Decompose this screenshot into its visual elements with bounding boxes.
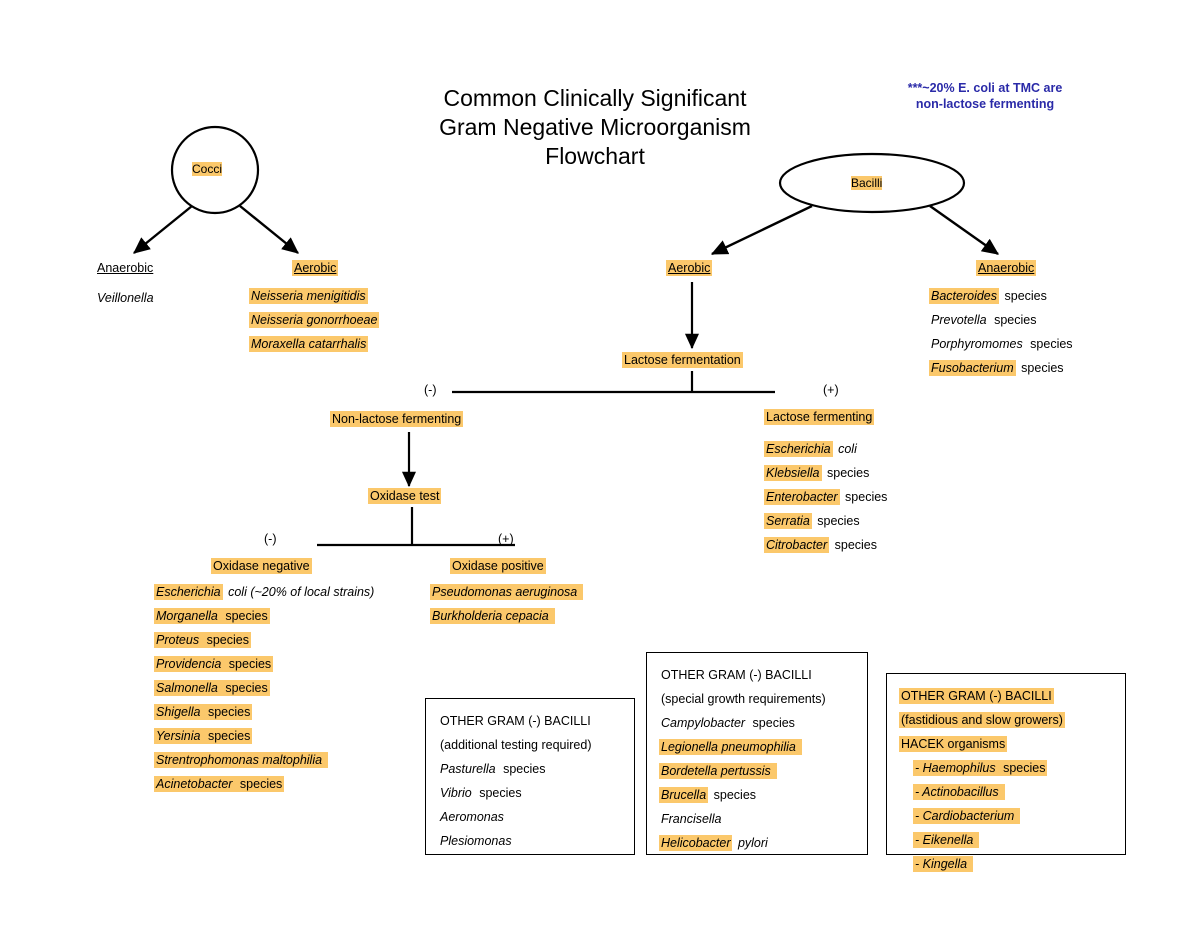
box1-item-0-genus: Campylobacter	[659, 715, 747, 731]
list-item: Burkholderia cepacia	[430, 604, 583, 628]
bacilli-anaerobic-item-3-rest: species	[1016, 360, 1066, 376]
cocci-aerobic-list: Neisseria menigitidis Neisseria gonorrho…	[249, 284, 379, 356]
oxidase-neg-item-8-rest: species	[234, 776, 284, 792]
list-item: Strentrophomonas maltophilia	[154, 748, 376, 772]
box0-item-2-rest	[506, 809, 510, 825]
box0-item-2-genus: Aeromonas	[438, 809, 506, 825]
list-item: - Kingella	[899, 852, 1113, 876]
box2-item-1-genus: - Actinobacillus	[913, 784, 1001, 800]
lactose-item-1-genus: Klebsiella	[764, 465, 822, 481]
oxidase-neg-item-1-genus: Morganella	[154, 608, 220, 624]
list-item: Enterobacter species	[764, 485, 889, 509]
box-title: OTHER GRAM (-) BACILLI	[438, 709, 622, 733]
box1-item-1-rest	[798, 739, 802, 755]
list-item: Moraxella catarrhalis	[249, 332, 379, 356]
list-item: Helicobacter pylori	[659, 831, 855, 855]
oxidase-neg-item-0-genus: Escherichia	[154, 584, 223, 600]
oxidase-neg-item-5-genus: Shigella	[154, 704, 202, 720]
oxidase-neg-item-3-rest: species	[223, 656, 273, 672]
oxidase-neg-item-3-genus: Providencia	[154, 656, 223, 672]
cocci-anaerobic-header-text: Anaerobic	[95, 260, 155, 276]
list-item: Klebsiella species	[764, 461, 889, 485]
oxidase-neg-item-5-rest: species	[202, 704, 252, 720]
list-item: Proteus species	[154, 628, 376, 652]
oxidase-negative-node: Oxidase negative	[211, 559, 312, 573]
oxidase-neg-item-4-genus: Salmonella	[154, 680, 220, 696]
oxidase-neg-item-1-rest: species	[220, 608, 270, 624]
oxidase-neg-item-7-rest	[324, 752, 328, 768]
box-title: OTHER GRAM (-) BACILLI	[899, 684, 1113, 708]
list-item: Brucella species	[659, 783, 855, 807]
box-title: OTHER GRAM (-) BACILLI	[659, 663, 855, 687]
list-item: Neisseria menigitidis	[249, 284, 379, 308]
lactose-fermenting-node: Lactose fermenting	[764, 410, 874, 424]
list-item: Aeromonas	[438, 805, 622, 829]
list-item: Neisseria gonorrhoeae	[249, 308, 379, 332]
cocci-label: Cocci	[192, 162, 222, 176]
oxidase-pos-item-1-genus: Burkholderia cepacia	[430, 608, 551, 624]
box2-item-0-genus: - Haemophilus	[913, 760, 998, 776]
bacilli-aerobic-header-text: Aerobic	[666, 260, 712, 276]
box2-item-2-genus: - Cardiobacterium	[913, 808, 1016, 824]
list-item: Francisella	[659, 807, 855, 831]
footnote-line-1: ***~20% E. coli at TMC are	[865, 80, 1105, 96]
oxidase-minus-sign: (-)	[264, 532, 277, 546]
box1-item-4-genus: Francisella	[659, 811, 723, 827]
oxidase-neg-item-6-genus: Yersinia	[154, 728, 202, 744]
lactose-item-1-rest: species	[822, 465, 872, 481]
cocci-aerobic-header: Aerobic	[292, 261, 338, 275]
list-item: Campylobacter species	[659, 711, 855, 735]
list-item: Prevotella species	[929, 308, 1075, 332]
oxidase-plus-sign: (+)	[498, 532, 514, 546]
box2-item-3-rest	[975, 832, 979, 848]
lactose-item-3-rest: species	[812, 513, 862, 529]
list-item: Shigella species	[154, 700, 376, 724]
lactose-item-2-rest: species	[840, 489, 890, 505]
oxidase-neg-item-2-genus: Proteus	[154, 632, 201, 648]
cocci-label-text: Cocci	[192, 162, 222, 176]
box-subtitle: (additional testing required)	[438, 733, 622, 757]
cocci-aerobic-item-1: Neisseria gonorrhoeae	[249, 312, 379, 328]
list-item: Bacteroides species	[929, 284, 1075, 308]
oxidase-neg-item-2-rest: species	[201, 632, 251, 648]
list-item: Citrobacter species	[764, 533, 889, 557]
box2-item-3-genus: - Eikenella	[913, 832, 975, 848]
list-item: - Eikenella	[899, 828, 1113, 852]
arrow-cocci-aerobic	[240, 206, 298, 253]
box2-item-4-genus: - Kingella	[913, 856, 969, 872]
box1-item-2-rest	[773, 763, 777, 779]
box0-item-0-rest: species	[498, 761, 548, 777]
box2-item-4-rest	[969, 856, 973, 872]
oxidase-pos-item-1-rest	[551, 608, 555, 624]
box1-item-3-genus: Brucella	[659, 787, 708, 803]
cocci-aerobic-header-text: Aerobic	[292, 260, 338, 276]
box0-item-0-genus: Pasturella	[438, 761, 498, 777]
list-item: Veillonella	[95, 286, 156, 310]
oxidase-neg-item-8-genus: Acinetobacter	[154, 776, 234, 792]
box1-item-4-rest	[723, 811, 727, 827]
bacilli-anaerobic-item-1-genus: Prevotella	[929, 312, 989, 328]
box-subtitle: (fastidious and slow growers)	[899, 708, 1113, 732]
box1-item-5-genus: Helicobacter	[659, 835, 732, 851]
non-lactose-fermenting-text: Non-lactose fermenting	[330, 411, 463, 427]
list-item: Morganella species	[154, 604, 376, 628]
non-lactose-fermenting-node: Non-lactose fermenting	[330, 412, 463, 426]
list-item: - Haemophilus species	[899, 756, 1113, 780]
title-line-2: Gram Negative Microorganism	[400, 113, 790, 142]
oxidase-negative-text: Oxidase negative	[211, 558, 312, 574]
bacilli-anaerobic-header-text: Anaerobic	[976, 260, 1036, 276]
list-item: - Actinobacillus	[899, 780, 1113, 804]
cocci-anaerobic-item-0: Veillonella	[95, 290, 156, 306]
box2-item-0-rest: species	[998, 760, 1048, 776]
bacilli-anaerobic-item-0-genus: Bacteroides	[929, 288, 999, 304]
box1-item-1-genus: Legionella pneumophilia	[659, 739, 798, 755]
list-item: Bordetella pertussis	[659, 759, 855, 783]
list-item: Porphyromomes species	[929, 332, 1075, 356]
list-item: Escherichia coli (~20% of local strains)	[154, 580, 376, 604]
arrow-cocci-anaerobic	[134, 206, 192, 253]
lactose-fermentation-test-text: Lactose fermentation	[622, 352, 743, 368]
lactose-fermenting-list: Escherichia coli Klebsiella species Ente…	[764, 437, 889, 557]
page-title: Common Clinically Significant Gram Negat…	[400, 84, 790, 171]
oxidase-positive-text: Oxidase positive	[450, 558, 546, 574]
lactose-fermenting-text: Lactose fermenting	[764, 409, 874, 425]
list-item: Serratia species	[764, 509, 889, 533]
footnote-ecoli-tmc: ***~20% E. coli at TMC are non-lactose f…	[865, 80, 1105, 112]
bacilli-anaerobic-item-1-rest: species	[989, 312, 1039, 328]
lactose-fermentation-test: Lactose fermentation	[622, 353, 743, 367]
bacilli-anaerobic-item-2-rest: species	[1025, 336, 1075, 352]
list-item: Pseudomonas aeruginosa	[430, 580, 583, 604]
oxidase-neg-item-7-genus: Strentrophomonas maltophilia	[154, 752, 324, 768]
bacilli-aerobic-header: Aerobic	[666, 261, 712, 275]
list-item: Acinetobacter species	[154, 772, 376, 796]
list-item: Yersinia species	[154, 724, 376, 748]
list-item: Salmonella species	[154, 676, 376, 700]
box0-item-3-rest	[514, 833, 518, 849]
list-item: Vibrio species	[438, 781, 622, 805]
arrow-bacilli-anaerobic	[930, 206, 998, 254]
oxidase-pos-item-0-rest	[579, 584, 583, 600]
oxidase-test-text: Oxidase test	[368, 488, 441, 504]
box2-item-1-rest	[1001, 784, 1005, 800]
lactose-item-4-genus: Citrobacter	[764, 537, 829, 553]
cocci-anaerobic-header: Anaerobic	[95, 261, 155, 275]
bacilli-anaerobic-header: Anaerobic	[976, 261, 1036, 275]
list-item: - Cardiobacterium	[899, 804, 1113, 828]
footnote-line-2: non-lactose fermenting	[865, 96, 1105, 112]
oxidase-neg-item-0-rest: coli (~20% of local strains)	[223, 584, 377, 600]
title-line-1: Common Clinically Significant	[400, 84, 790, 113]
bacilli-label: Bacilli	[851, 176, 882, 190]
list-item: Pasturella species	[438, 757, 622, 781]
box0-item-3-genus: Plesiomonas	[438, 833, 514, 849]
oxidase-positive-list: Pseudomonas aeruginosa Burkholderia cepa…	[430, 580, 583, 628]
box1-item-3-rest: species	[708, 787, 758, 803]
other-bacilli-box-additional-testing: OTHER GRAM (-) BACILLI (additional testi…	[425, 698, 635, 855]
cocci-anaerobic-list: Veillonella	[95, 286, 156, 310]
lactose-plus-sign: (+)	[823, 383, 839, 397]
cocci-aerobic-item-2: Moraxella catarrhalis	[249, 336, 368, 352]
title-line-3: Flowchart	[400, 142, 790, 171]
other-bacilli-box-hacek: OTHER GRAM (-) BACILLI (fastidious and s…	[886, 673, 1126, 855]
list-item: Fusobacterium species	[929, 356, 1075, 380]
lactose-minus-sign: (-)	[424, 383, 437, 397]
oxidase-test-node: Oxidase test	[368, 489, 441, 503]
box1-item-5-rest: pylori	[732, 835, 769, 851]
oxidase-neg-item-6-rest: species	[202, 728, 252, 744]
lactose-item-0-genus: Escherichia	[764, 441, 833, 457]
lactose-item-3-genus: Serratia	[764, 513, 812, 529]
lactose-item-4-rest: species	[829, 537, 879, 553]
lactose-item-2-genus: Enterobacter	[764, 489, 840, 505]
box1-item-2-genus: Bordetella pertussis	[659, 763, 773, 779]
oxidase-negative-list: Escherichia coli (~20% of local strains)…	[154, 580, 376, 796]
oxidase-pos-item-0-genus: Pseudomonas aeruginosa	[430, 584, 579, 600]
oxidase-positive-node: Oxidase positive	[450, 559, 546, 573]
box1-item-0-rest: species	[747, 715, 797, 731]
cocci-aerobic-item-0: Neisseria menigitidis	[249, 288, 368, 304]
box0-item-1-genus: Vibrio	[438, 785, 474, 801]
list-item: Escherichia coli	[764, 437, 889, 461]
lactose-item-0-rest: coli	[833, 441, 859, 457]
other-bacilli-box-special-growth: OTHER GRAM (-) BACILLI (special growth r…	[646, 652, 868, 855]
bacilli-anaerobic-item-2-genus: Porphyromomes	[929, 336, 1025, 352]
list-item: Plesiomonas	[438, 829, 622, 853]
list-item: Providencia species	[154, 652, 376, 676]
oxidase-neg-item-4-rest: species	[220, 680, 270, 696]
list-item: Legionella pneumophilia	[659, 735, 855, 759]
bacilli-anaerobic-item-3-genus: Fusobacterium	[929, 360, 1016, 376]
bacilli-anaerobic-list: Bacteroides species Prevotella species P…	[929, 284, 1075, 380]
bacilli-anaerobic-item-0-rest: species	[999, 288, 1049, 304]
arrow-bacilli-aerobic	[712, 206, 812, 254]
box2-item-2-rest	[1016, 808, 1020, 824]
flowchart-canvas: Common Clinically Significant Gram Negat…	[0, 0, 1200, 927]
bacilli-label-text: Bacilli	[851, 176, 882, 190]
box-subtitle: (special growth requirements)	[659, 687, 855, 711]
box-group-label: HACEK organisms	[899, 732, 1113, 756]
box0-item-1-rest: species	[474, 785, 524, 801]
